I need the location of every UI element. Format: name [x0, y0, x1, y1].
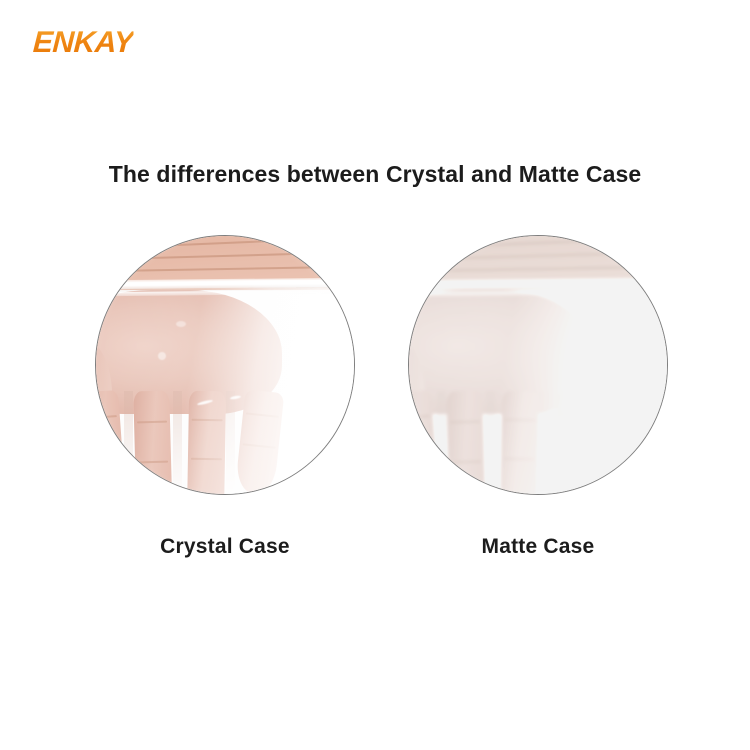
crystal-case-photo	[95, 235, 355, 495]
brand-logo: ENKAY	[32, 28, 134, 58]
crystal-scene	[96, 236, 354, 494]
phone-case-body	[95, 280, 355, 495]
matte-scene	[409, 236, 667, 494]
phone-case-body	[408, 280, 668, 495]
matte-case-photo	[408, 235, 668, 495]
caption-crystal-case: Crystal Case	[95, 535, 355, 559]
comparison-item-matte: Matte Case	[408, 235, 668, 559]
highlight-glint	[158, 352, 166, 360]
comparison-section: Crystal Case	[0, 235, 750, 575]
caption-matte-case: Matte Case	[408, 535, 668, 559]
page-title: The differences between Crystal and Matt…	[0, 161, 750, 188]
comparison-item-crystal: Crystal Case	[95, 235, 355, 559]
